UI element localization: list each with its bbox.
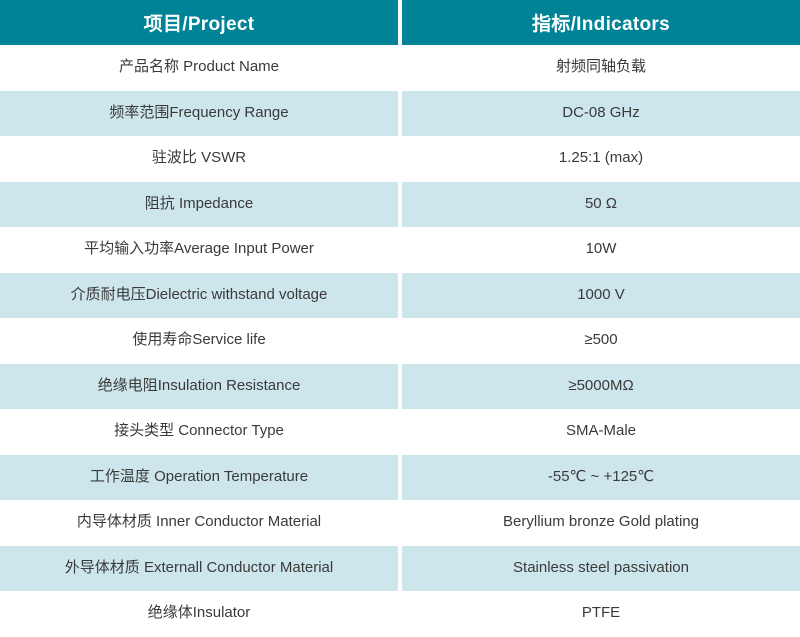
column-header-project: 项目/Project bbox=[0, 0, 400, 45]
cell-indicator: SMA-Male bbox=[400, 409, 800, 455]
cell-project: 阻抗 Impedance bbox=[0, 182, 400, 228]
cell-project: 绝缘电阻Insulation Resistance bbox=[0, 364, 400, 410]
table-row: 内导体材质 Inner Conductor MaterialBeryllium … bbox=[0, 500, 800, 546]
cell-indicator: Beryllium bronze Gold plating bbox=[400, 500, 800, 546]
cell-indicator: Stainless steel passivation bbox=[400, 546, 800, 592]
cell-project: 使用寿命Service life bbox=[0, 318, 400, 364]
cell-project: 内导体材质 Inner Conductor Material bbox=[0, 500, 400, 546]
table-row: 绝缘电阻Insulation Resistance≥5000MΩ bbox=[0, 364, 800, 410]
table-row: 阻抗 Impedance50 Ω bbox=[0, 182, 800, 228]
table-row: 绝缘体InsulatorPTFE bbox=[0, 591, 800, 637]
cell-indicator: 1.25:1 (max) bbox=[400, 136, 800, 182]
specification-table: 项目/Project 指标/Indicators 产品名称 Product Na… bbox=[0, 0, 800, 637]
table-row: 驻波比 VSWR1.25:1 (max) bbox=[0, 136, 800, 182]
cell-indicator: 1000 V bbox=[400, 273, 800, 319]
cell-indicator: 射频同轴负载 bbox=[400, 45, 800, 91]
cell-indicator: ≥5000MΩ bbox=[400, 364, 800, 410]
cell-project: 产品名称 Product Name bbox=[0, 45, 400, 91]
cell-project: 绝缘体Insulator bbox=[0, 591, 400, 637]
column-header-indicators: 指标/Indicators bbox=[400, 0, 800, 45]
cell-project: 接头类型 Connector Type bbox=[0, 409, 400, 455]
cell-indicator: PTFE bbox=[400, 591, 800, 637]
table-row: 工作温度 Operation Temperature-55℃ ~ +125℃ bbox=[0, 455, 800, 501]
cell-project: 外导体材质 Externall Conductor Material bbox=[0, 546, 400, 592]
table-body: 产品名称 Product Name射频同轴负载频率范围Frequency Ran… bbox=[0, 45, 800, 637]
cell-project: 介质耐电压Dielectric withstand voltage bbox=[0, 273, 400, 319]
table-row: 频率范围Frequency RangeDC-08 GHz bbox=[0, 91, 800, 137]
cell-project: 平均输入功率Average Input Power bbox=[0, 227, 400, 273]
table-row: 使用寿命Service life≥500 bbox=[0, 318, 800, 364]
cell-project: 驻波比 VSWR bbox=[0, 136, 400, 182]
table-row: 接头类型 Connector TypeSMA-Male bbox=[0, 409, 800, 455]
table-row: 外导体材质 Externall Conductor MaterialStainl… bbox=[0, 546, 800, 592]
cell-indicator: ≥500 bbox=[400, 318, 800, 364]
cell-indicator: 50 Ω bbox=[400, 182, 800, 228]
cell-indicator: DC-08 GHz bbox=[400, 91, 800, 137]
table-row: 产品名称 Product Name射频同轴负载 bbox=[0, 45, 800, 91]
cell-project: 频率范围Frequency Range bbox=[0, 91, 400, 137]
table-header: 项目/Project 指标/Indicators bbox=[0, 0, 800, 45]
cell-indicator: 10W bbox=[400, 227, 800, 273]
table-row: 介质耐电压Dielectric withstand voltage1000 V bbox=[0, 273, 800, 319]
table-header-row: 项目/Project 指标/Indicators bbox=[0, 0, 800, 45]
table-row: 平均输入功率Average Input Power10W bbox=[0, 227, 800, 273]
cell-indicator: -55℃ ~ +125℃ bbox=[400, 455, 800, 501]
cell-project: 工作温度 Operation Temperature bbox=[0, 455, 400, 501]
